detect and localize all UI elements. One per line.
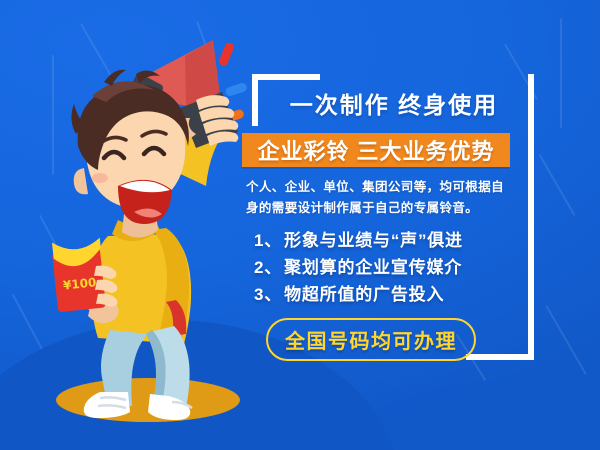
benefits-list: 1、 形象与业绩与“声”俱进 2、 聚划算的企业宣传媒介 3、 物超所值的广告投… (254, 228, 540, 309)
list-item: 1、 形象与业绩与“声”俱进 (254, 228, 540, 255)
list-item: 2、 聚划算的企业宣传媒介 (254, 255, 540, 282)
list-item-label: 物超所值的广告投入 (284, 282, 444, 309)
list-item-label: 形象与业绩与“声”俱进 (284, 228, 463, 255)
ground-pad (56, 378, 240, 422)
list-item-label: 聚划算的企业宣传媒介 (284, 255, 462, 282)
list-item: 3、 物超所值的广告投入 (254, 282, 540, 309)
banner-title: 企业彩铃 三大业务优势 (242, 133, 510, 167)
list-item-number: 2、 (254, 255, 282, 282)
list-item-number: 1、 (254, 228, 282, 255)
cta-wrapper: 全国号码均可办理 (266, 318, 540, 361)
headline: 一次制作 终身使用 (248, 92, 540, 120)
list-item-number: 3、 (254, 282, 282, 309)
envelope-grip-fingers (94, 266, 117, 307)
text-content-block: 一次制作 终身使用 企业彩铃 三大业务优势 个人、企业、单位、集团公司等，均可根… (248, 82, 540, 361)
cta-button[interactable]: 全国号码均可办理 (266, 318, 476, 361)
poster-canvas: ¥100 (0, 0, 600, 450)
description-paragraph: 个人、企业、单位、集团公司等，均可根据自身的需要设计制作属于自己的专属铃音。 (246, 177, 514, 221)
